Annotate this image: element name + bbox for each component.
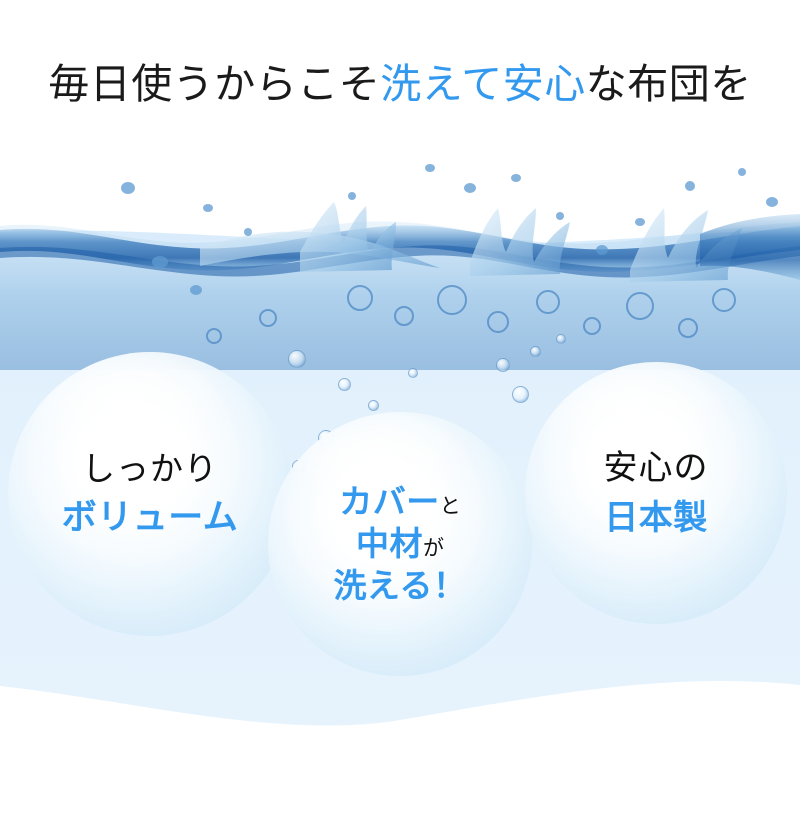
headline-suffix: な布団を xyxy=(586,61,752,107)
feature-madein-line1: 安心の xyxy=(604,446,709,490)
floating-bubble xyxy=(368,400,379,411)
feature-bubble-made-in-japan-text: 安心の 日本製 xyxy=(525,362,787,624)
feature-washable-line2-particle: が xyxy=(423,537,444,560)
product-feature-banner: 毎日使うからこそ洗えて安心な布団を xyxy=(0,0,800,820)
feature-washable-line3: 洗える！ xyxy=(333,565,466,607)
floating-bubble xyxy=(530,346,541,357)
feature-washable-line2: 中材が xyxy=(356,523,444,565)
feature-bubble-volume: しっかり ボリューム xyxy=(8,352,292,636)
feature-bubble-washable-text: カバーと 中材が 洗える！ xyxy=(268,412,532,676)
page-title: 毎日使うからこそ洗えて安心な布団を xyxy=(0,62,800,108)
feature-washable-line2-main: 中材 xyxy=(356,525,423,562)
feature-volume-line1: しっかり xyxy=(82,448,218,491)
feature-washable-line1-particle: と xyxy=(440,495,461,518)
floating-bubble xyxy=(496,358,510,372)
feature-bubble-washable: カバーと 中材が 洗える！ xyxy=(268,412,532,676)
feature-washable-line1-main: カバー xyxy=(339,483,440,520)
feature-bubble-made-in-japan: 安心の 日本製 xyxy=(525,362,787,624)
floating-bubble xyxy=(556,334,566,344)
headline-accent: 洗えて安心 xyxy=(380,61,585,107)
headline-prefix: 毎日使うからこそ xyxy=(48,61,380,107)
feature-washable-line1: カバーと xyxy=(339,481,461,523)
floating-bubble xyxy=(408,368,418,378)
feature-bubble-volume-text: しっかり ボリューム xyxy=(8,352,292,636)
feature-volume-line2: ボリューム xyxy=(62,495,238,541)
feature-madein-line2: 日本製 xyxy=(604,496,708,540)
floating-bubble xyxy=(338,378,351,391)
